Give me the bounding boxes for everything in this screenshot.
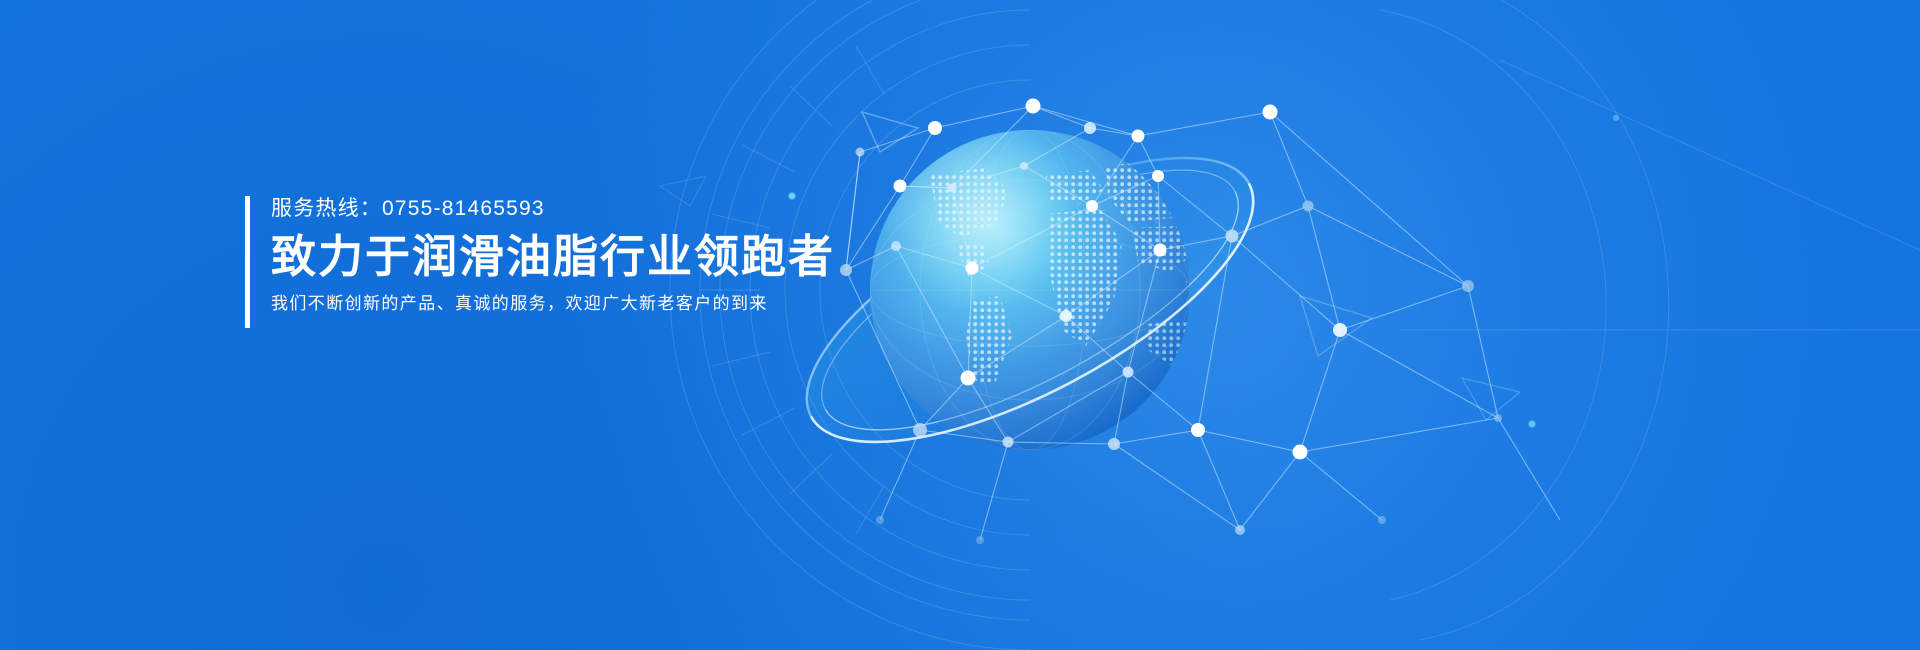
subtitle-text: 我们不断创新的产品、真诚的服务，欢迎广大新老客户的到来 bbox=[271, 292, 835, 316]
globe-icon bbox=[789, 99, 1620, 545]
orbit-ring-front-icon bbox=[811, 184, 1292, 498]
network-nodes bbox=[789, 99, 1620, 545]
orbit-ring-icon bbox=[768, 102, 1292, 497]
hero-banner: 服务热线：0755-81465593 致力于润滑油脂行业领跑者 我们不断创新的产… bbox=[0, 0, 1920, 650]
accent-bar bbox=[245, 196, 250, 328]
network-mesh bbox=[846, 106, 1560, 540]
dot-world-map bbox=[930, 158, 1214, 386]
hero-text-block: 服务热线：0755-81465593 致力于润滑油脂行业领跑者 我们不断创新的产… bbox=[245, 196, 835, 328]
grid-arc-right-icon bbox=[1380, 0, 1920, 640]
hotline-text: 服务热线：0755-81465593 bbox=[271, 196, 835, 222]
page-title: 致力于润滑油脂行业领跑者 bbox=[271, 228, 835, 286]
